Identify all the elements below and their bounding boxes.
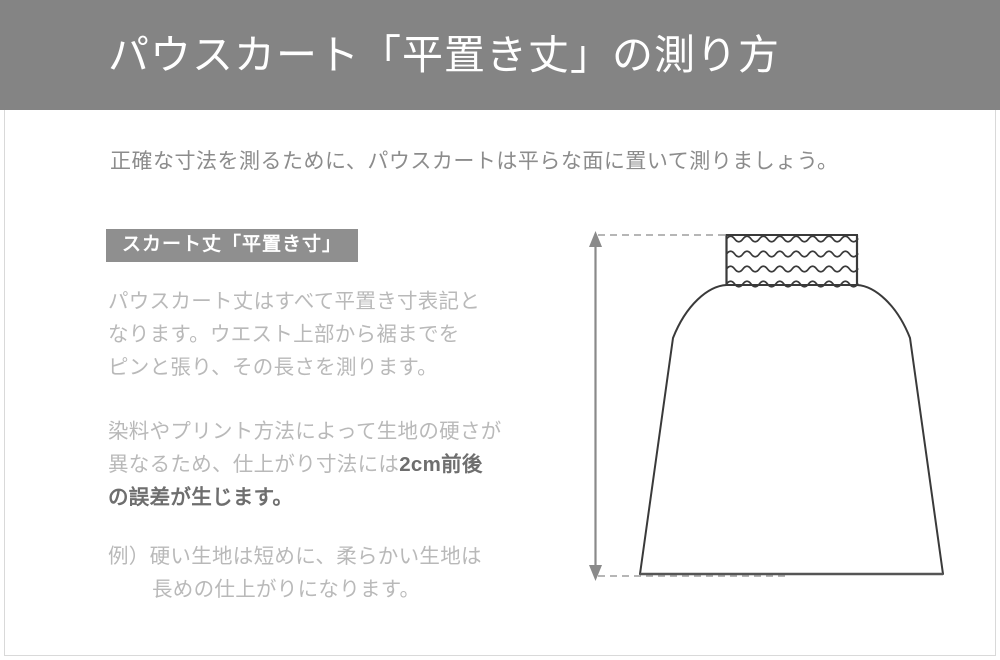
paragraph1-line2: なります。ウエスト上部から裾までを: [108, 318, 538, 351]
header-band: パウスカート「平置き丈」の測り方: [0, 0, 1000, 110]
example-line2: 長めの仕上がりになります。: [152, 573, 538, 606]
paragraph-flat-measure: パウスカート丈はすべて平置き寸表記と なります。ウエスト上部から裾までを ピンと…: [108, 285, 538, 384]
measure-arrowhead-top: [589, 231, 602, 247]
example-line1: 硬い生地は短めに、柔らかい生地は: [150, 545, 482, 568]
skirt-diagram: [560, 205, 980, 605]
paragraph-tolerance: 染料やプリント方法によって生地の硬さが 異なるため、仕上がり寸法には2cm前後 …: [108, 415, 538, 514]
paragraph1-line3: ピンと張り、その長さを測ります。: [108, 351, 538, 384]
tolerance-value: 2cm前後: [399, 453, 483, 476]
text-column: パウスカート丈はすべて平置き寸表記と なります。ウエスト上部から裾までを ピンと…: [108, 285, 538, 606]
paragraph1-line1: パウスカート丈はすべて平置き寸表記と: [108, 285, 538, 318]
example-marker: 例）: [108, 545, 150, 568]
example-block: 例）硬い生地は短めに、柔らかい生地は 長めの仕上がりになります。: [108, 540, 538, 606]
page-title: パウスカート「平置き丈」の測り方: [108, 35, 780, 76]
paragraph2-line1: 染料やプリント方法によって生地の硬さが: [108, 415, 538, 448]
intro-text: 正確な寸法を測るために、パウスカートは平らな面に置いて測りましょう。: [110, 145, 838, 175]
paragraph2-line3: の誤差が生じます。: [108, 481, 538, 514]
paragraph2-line2: 異なるため、仕上がり寸法には2cm前後: [108, 448, 538, 481]
measure-arrowhead-bottom: [589, 565, 602, 581]
paragraph2-line2-plain: 異なるため、仕上がり寸法には: [108, 453, 399, 476]
section-badge: スカート丈「平置き寸」: [106, 229, 358, 262]
page-root: パウスカート「平置き丈」の測り方 正確な寸法を測るために、パウスカートは平らな面…: [0, 0, 1000, 660]
